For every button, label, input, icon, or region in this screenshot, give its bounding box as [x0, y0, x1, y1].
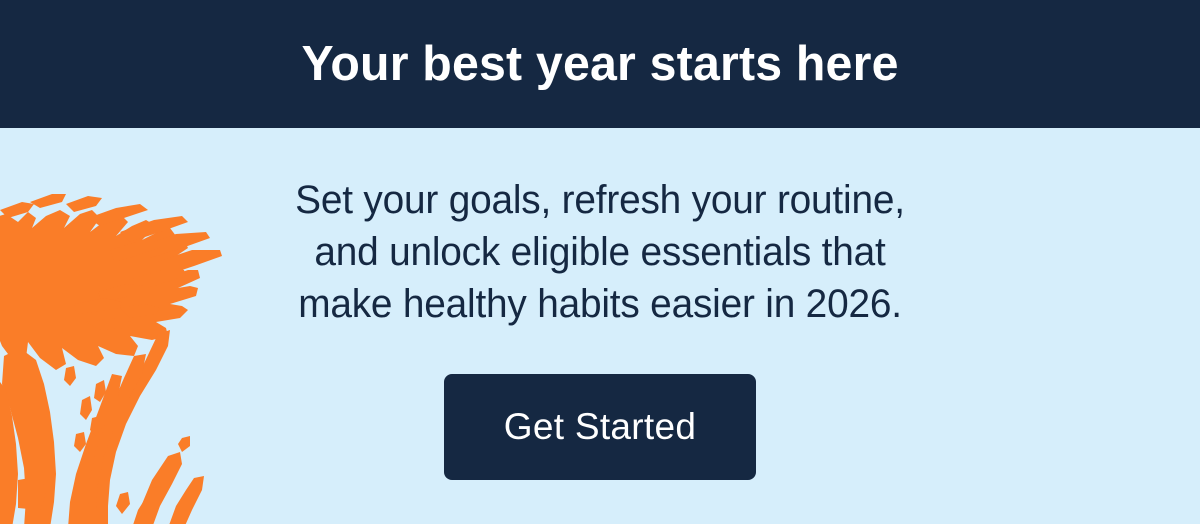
headline: Your best year starts here [301, 40, 898, 89]
banner-header-bar: Your best year starts here [0, 0, 1200, 128]
cta-container: Get Started [0, 374, 1200, 480]
subhead-line-1: Set your goals, refresh your routine, [18, 174, 1182, 226]
get-started-button[interactable]: Get Started [444, 374, 756, 480]
subhead-line-3: make healthy habits easier in 2026. [18, 278, 1182, 330]
subhead-copy: Set your goals, refresh your routine, an… [0, 174, 1200, 330]
promo-banner: Your best year starts here [0, 0, 1200, 524]
subhead-line-2: and unlock eligible essentials that [18, 226, 1182, 278]
banner-body: Set your goals, refresh your routine, an… [0, 128, 1200, 524]
